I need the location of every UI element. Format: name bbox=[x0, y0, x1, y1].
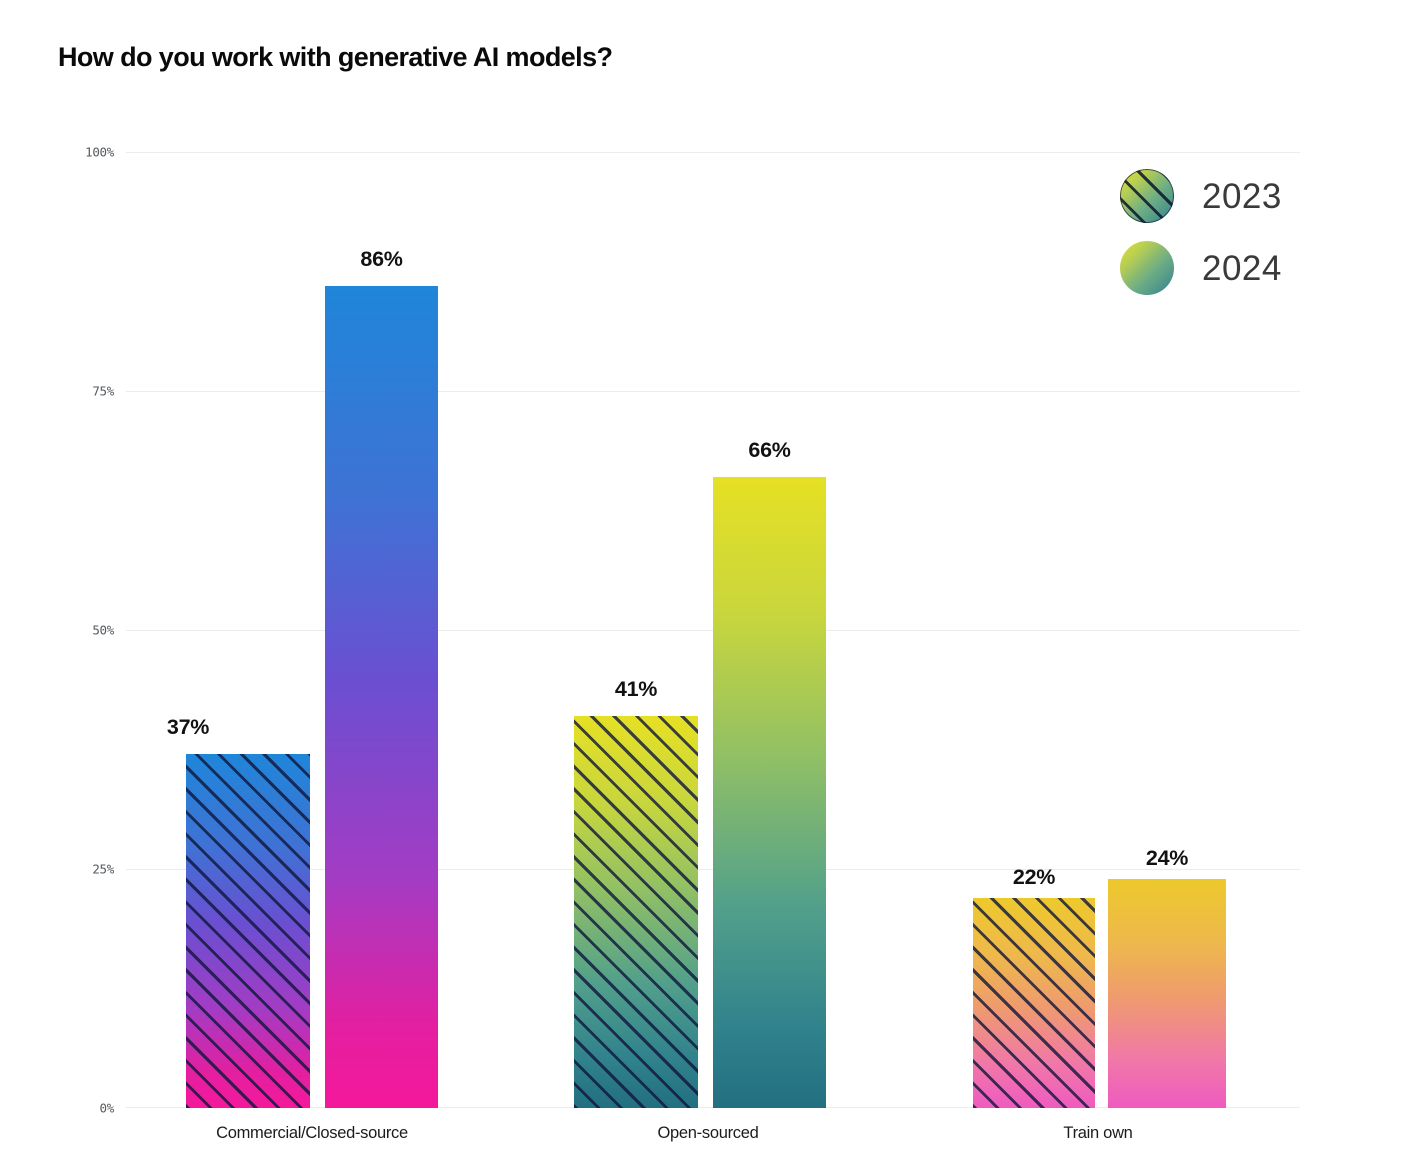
value-label-2024-commercial-closed-source: 86% bbox=[325, 247, 438, 272]
gridline-75 bbox=[126, 391, 1300, 392]
y-axis-tick-0: 0% bbox=[34, 1101, 114, 1116]
x-axis-label-open-sourced: Open-sourced bbox=[558, 1124, 858, 1143]
bar-hatch-pattern bbox=[574, 716, 698, 1108]
bar-2024-commercial-closed-source[interactable] bbox=[325, 286, 438, 1108]
value-label-2023-open-sourced: 41% bbox=[574, 677, 698, 702]
bar-2023-open-sourced[interactable] bbox=[574, 716, 698, 1108]
swatch-fill bbox=[1120, 241, 1174, 295]
bar-hatch-pattern bbox=[186, 754, 310, 1108]
y-axis-tick-75: 75% bbox=[34, 384, 114, 399]
bar-2024-open-sourced[interactable] bbox=[713, 477, 826, 1108]
bar-2023-commercial-closed-source[interactable] bbox=[186, 754, 310, 1108]
legend-item-2024[interactable]: 2024 bbox=[1120, 232, 1282, 304]
y-axis-tick-50: 50% bbox=[34, 623, 114, 638]
legend-swatch-solid-circle-icon bbox=[1120, 241, 1174, 295]
y-axis-tick-100: 100% bbox=[34, 145, 114, 160]
value-label-2024-train-own: 24% bbox=[1108, 846, 1226, 871]
bar-2023-train-own[interactable] bbox=[973, 898, 1095, 1108]
bar-fill bbox=[325, 286, 438, 1108]
value-label-2023-train-own: 22% bbox=[973, 865, 1095, 890]
swatch-outline bbox=[1120, 169, 1174, 223]
legend-label-2023: 2023 bbox=[1202, 179, 1282, 214]
legend-item-2023[interactable]: 2023 bbox=[1120, 160, 1282, 232]
x-axis-label-train-own: Train own bbox=[948, 1124, 1248, 1143]
bar-2024-train-own[interactable] bbox=[1108, 879, 1226, 1108]
bar-hatch-pattern bbox=[973, 898, 1095, 1108]
bar-fill bbox=[1108, 879, 1226, 1108]
legend-swatch-hatched-circle-icon bbox=[1120, 169, 1174, 223]
x-axis-label-commercial-closed-source: Commercial/Closed-source bbox=[162, 1124, 462, 1143]
value-label-2023-commercial-closed-source: 37% bbox=[126, 715, 250, 740]
y-axis-tick-25: 25% bbox=[34, 862, 114, 877]
bar-fill bbox=[713, 477, 826, 1108]
legend: 2023 2024 bbox=[1120, 160, 1282, 304]
value-label-2024-open-sourced: 66% bbox=[713, 438, 826, 463]
legend-label-2024: 2024 bbox=[1202, 251, 1282, 286]
gridline-100 bbox=[126, 152, 1300, 153]
page-title: How do you work with generative AI model… bbox=[58, 42, 612, 73]
